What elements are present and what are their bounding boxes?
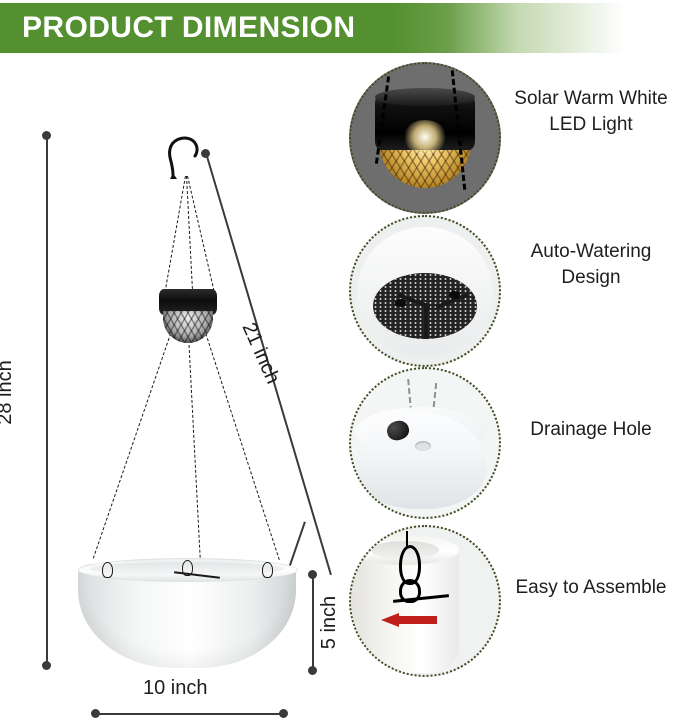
product-dimension-diagram: 28 inch 21 inch 5 inch 10 inch: [0, 53, 345, 678]
measure-depth-label: 5 inch: [318, 596, 341, 649]
measure-depth-line: [312, 574, 314, 670]
pot-hook-left: [102, 562, 113, 578]
callout-solar-glow: [403, 120, 447, 154]
measure-chain-label: 21 inch: [237, 319, 284, 387]
lamp-globe: [163, 311, 213, 343]
solar-lamp: [159, 289, 217, 343]
callout-drainage-label: Drainage Hole: [503, 417, 679, 443]
callout-assemble-label-line1: Easy to Assemble: [503, 575, 679, 601]
measure-diameter-dot-left: [91, 709, 100, 718]
measure-depth-dot-top: [308, 570, 317, 579]
measure-height-label: 28 inch: [0, 360, 17, 425]
drainage-hole-icon: [415, 441, 431, 451]
callout-solar-label: Solar Warm White LED Light: [503, 86, 679, 138]
callout-solar-label-line2: LED Light: [503, 112, 679, 138]
measure-height-dot-top: [42, 131, 51, 140]
callout-solar-cap-top: [375, 88, 475, 106]
page-title: PRODUCT DIMENSION: [22, 8, 355, 48]
callout-drainage-hole: Drainage Hole: [340, 367, 679, 519]
chain-left-upper: [163, 176, 186, 302]
measure-depth-dot-bottom: [308, 666, 317, 675]
callout-auto-watering: Auto-Watering Design: [340, 215, 679, 367]
chain-mid-lower: [188, 335, 201, 573]
callout-water-label-line1: Auto-Watering: [503, 239, 679, 265]
lamp-facet-pattern: [163, 311, 213, 343]
callout-solar-label-line1: Solar Warm White: [503, 86, 679, 112]
callout-water-label-line2: Design: [503, 265, 679, 291]
callout-easy-assemble: Easy to Assemble: [340, 525, 679, 677]
callout-auto-watering-image: [349, 215, 501, 367]
callout-water-hole-left: [395, 299, 406, 307]
measure-diameter-dot-right: [279, 709, 288, 718]
measure-height-dot-bottom: [42, 661, 51, 670]
callout-solar-image: [349, 62, 501, 214]
measure-height-line: [46, 135, 48, 665]
callout-solar-led: Solar Warm White LED Light: [340, 62, 679, 214]
pot-hook-right: [262, 562, 273, 578]
callout-assemble-image: [349, 525, 501, 677]
pot-hook-mid: [182, 560, 193, 576]
callout-easy-assemble-label: Easy to Assemble: [503, 575, 679, 601]
callout-drainage-image: [349, 367, 501, 519]
callout-auto-watering-label: Auto-Watering Design: [503, 239, 679, 291]
s-hook-icon: [164, 133, 204, 179]
callout-drain-label-line1: Drainage Hole: [503, 417, 679, 443]
red-arrow-icon: [379, 613, 437, 627]
callout-water-hole-right: [449, 291, 460, 299]
planter-pot: [78, 558, 296, 668]
feature-callouts: Solar Warm White LED Light Auto-Watering…: [340, 55, 679, 678]
measure-diameter-line: [95, 713, 283, 715]
callout-water-mesh: [373, 273, 477, 339]
measure-diameter-label: 10 inch: [143, 677, 208, 700]
